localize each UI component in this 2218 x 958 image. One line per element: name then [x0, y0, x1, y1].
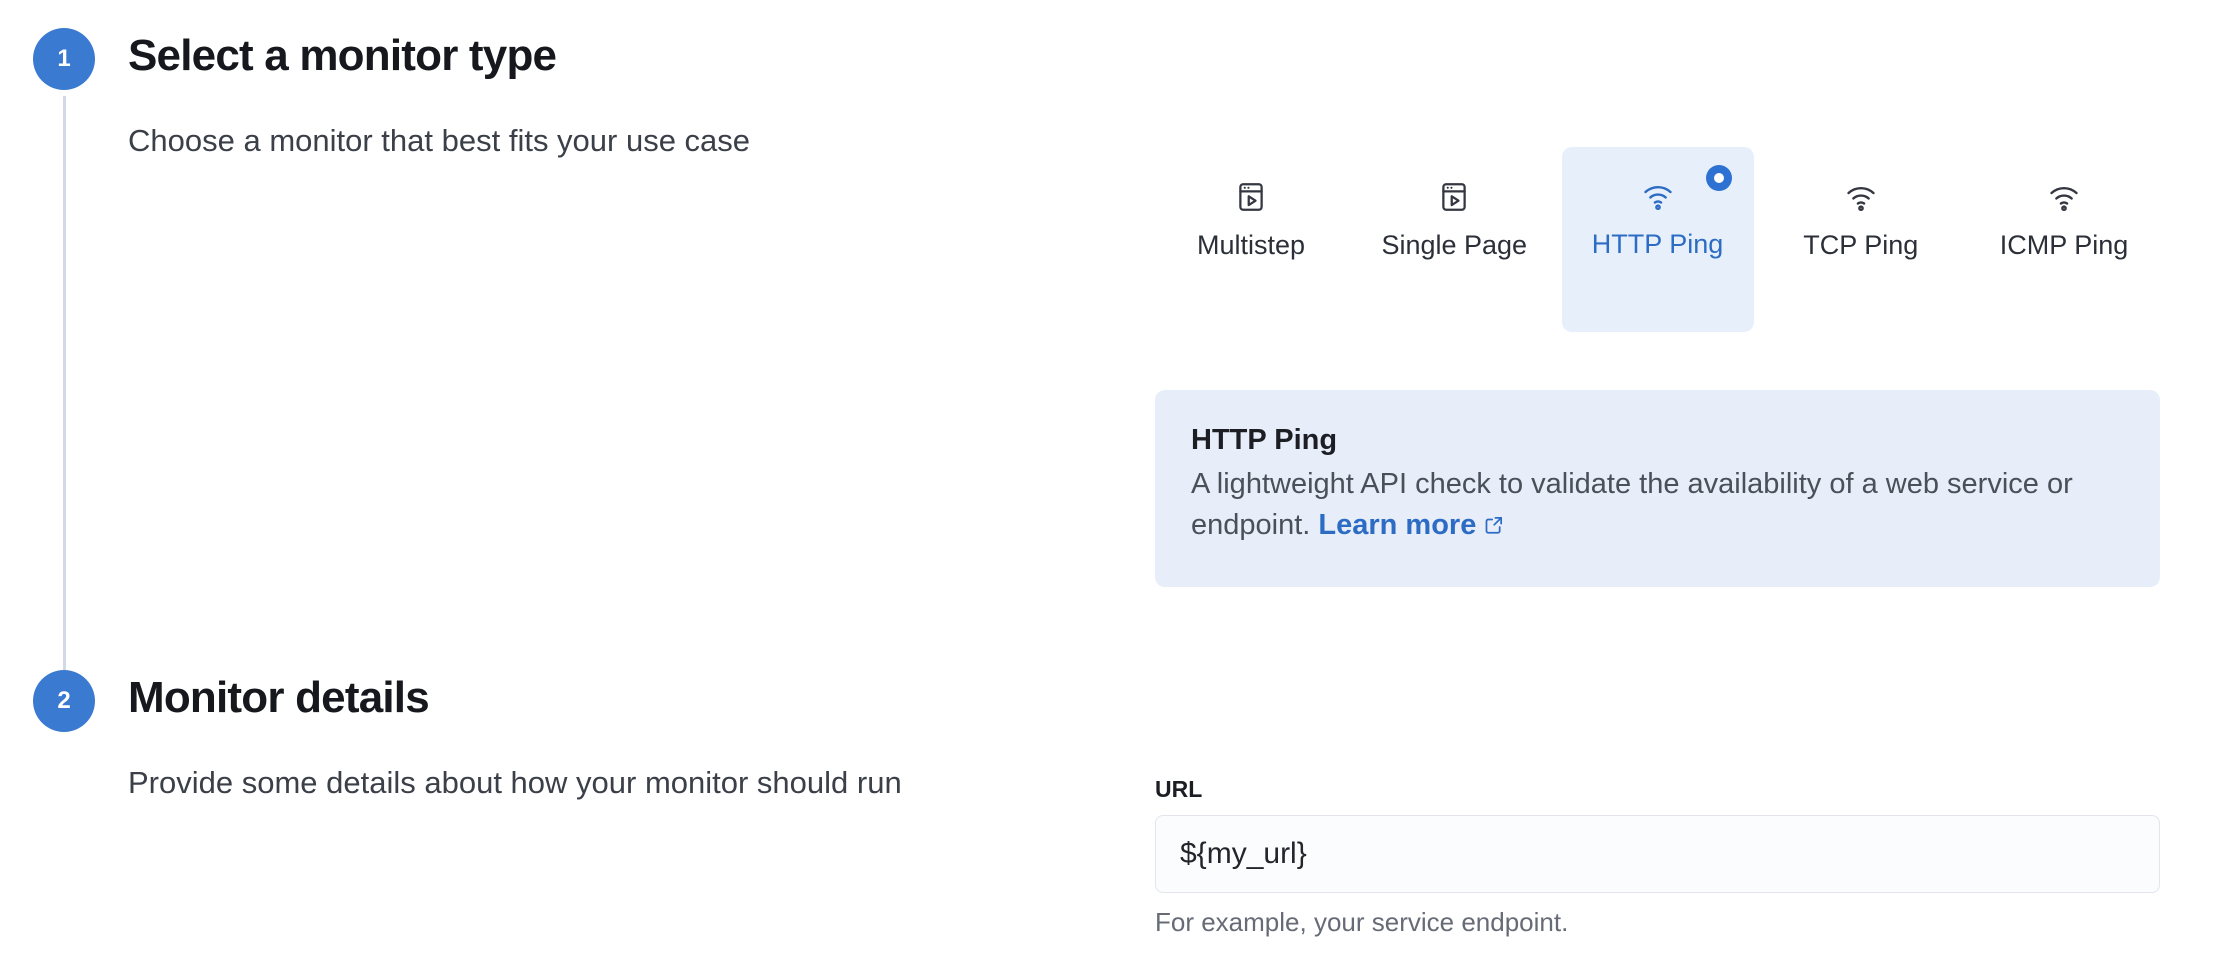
monitor-type-option-tcp-ping[interactable]: TCP Ping	[1765, 148, 1957, 279]
monitor-setup-page: 1 Select a monitor type Choose a monitor…	[0, 0, 2218, 958]
browser-play-icon	[1435, 178, 1473, 216]
step-title-2: Monitor details	[128, 673, 429, 723]
monitor-type-info-card: HTTP Ping A lightweight API check to val…	[1155, 390, 2160, 587]
monitor-type-label: HTTP Ping	[1592, 231, 1724, 258]
monitor-type-option-single-page[interactable]: Single Page	[1358, 148, 1550, 279]
monitor-type-selector: Multistep Single Page	[1155, 148, 2160, 332]
url-field-label: URL	[1155, 778, 2160, 801]
wifi-ping-icon	[1842, 178, 1880, 216]
step-subtitle-2: Provide some details about how your moni…	[128, 765, 902, 801]
radio-selected-icon[interactable]	[1706, 165, 1732, 191]
learn-more-link[interactable]: Learn more	[1318, 509, 1476, 541]
wifi-ping-icon	[1639, 177, 1677, 215]
browser-play-icon	[1232, 178, 1270, 216]
info-card-title: HTTP Ping	[1191, 422, 2124, 458]
stepper-connector-line	[63, 96, 66, 688]
monitor-type-label: TCP Ping	[1803, 232, 1918, 259]
monitor-type-option-multistep[interactable]: Multistep	[1155, 148, 1347, 279]
monitor-type-label: Multistep	[1197, 232, 1305, 259]
step-subtitle-1: Choose a monitor that best fits your use…	[128, 123, 750, 159]
monitor-type-label: ICMP Ping	[2000, 232, 2129, 259]
monitor-type-option-icmp-ping[interactable]: ICMP Ping	[1968, 148, 2160, 279]
step-title-1: Select a monitor type	[128, 31, 556, 81]
step-number-badge-1: 1	[33, 28, 95, 90]
url-input[interactable]	[1155, 815, 2160, 893]
url-field-block: URL For example, your service endpoint.	[1155, 778, 2160, 935]
wifi-ping-icon	[2045, 178, 2083, 216]
info-card-body: A lightweight API check to validate the …	[1191, 464, 2124, 546]
monitor-type-option-http-ping[interactable]: HTTP Ping	[1562, 147, 1754, 332]
external-link-icon[interactable]	[1483, 507, 1505, 529]
monitor-type-label: Single Page	[1381, 232, 1527, 259]
step-number-badge-2: 2	[33, 670, 95, 732]
url-field-help-text: For example, your service endpoint.	[1155, 909, 2160, 935]
